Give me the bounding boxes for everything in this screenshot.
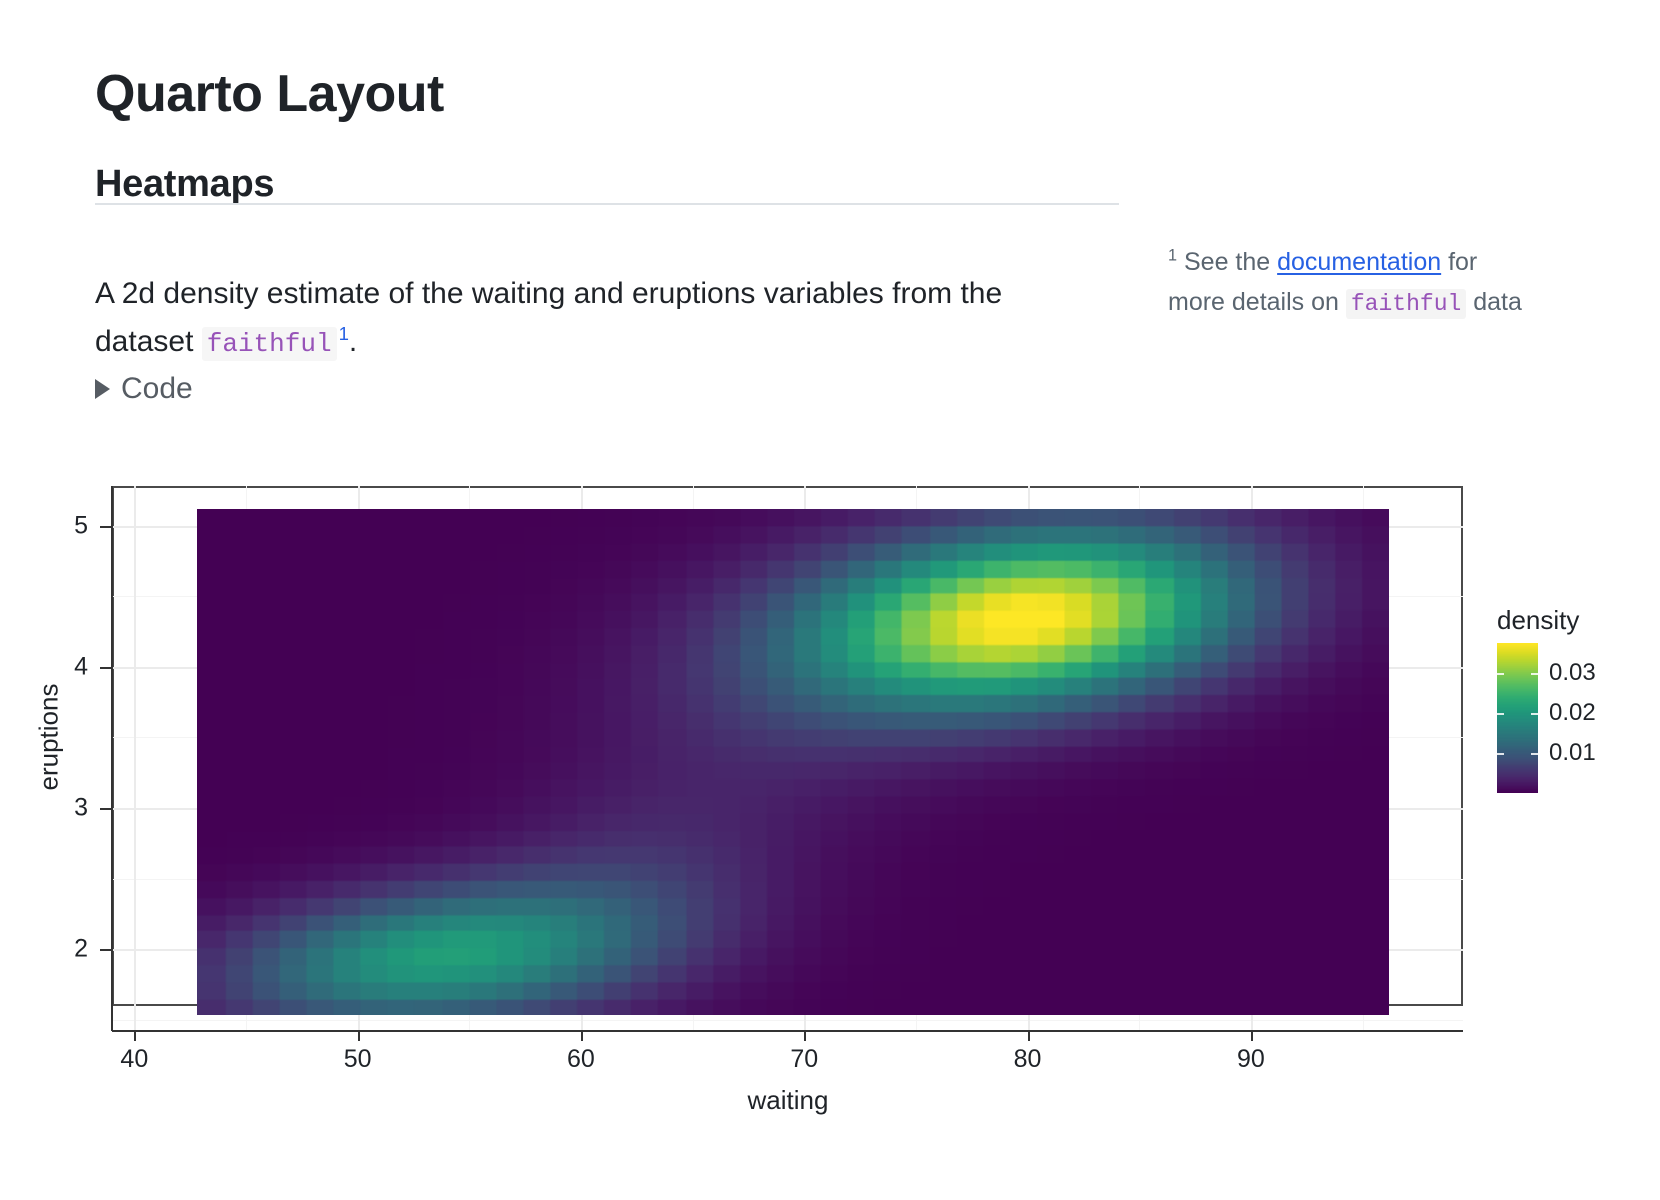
page-root: Quarto Layout Heatmaps A 2d density esti… (0, 0, 1660, 1200)
y-axis-tick-label: 2 (74, 935, 88, 964)
colorbar-tick-label: 0.02 (1549, 699, 1596, 727)
y-axis-tick-mark (100, 808, 111, 810)
x-axis-tick-mark (804, 1030, 806, 1041)
y-axis-tick-mark (100, 949, 111, 951)
x-axis-tick-mark (581, 1030, 583, 1041)
y-axis-tick-label: 4 (74, 652, 88, 681)
heatmap-raster (197, 509, 1389, 1016)
x-axis-tick-label: 90 (1237, 1045, 1265, 1074)
figure-heatmap: 4050607080902345 waiting eruptions densi… (0, 440, 1660, 1120)
margin-note-text-after: data (1466, 288, 1522, 316)
colorbar-gradient (1497, 643, 1538, 793)
colorbar-tick-mark (1497, 673, 1504, 675)
x-axis-line (112, 1030, 1463, 1032)
y-axis-tick-mark (100, 667, 111, 669)
code-disclosure-label: Code (121, 372, 193, 406)
y-gridline-minor (112, 1020, 1463, 1021)
body-paragraph: A 2d density estimate of the waiting and… (95, 270, 1105, 366)
colorbar-tick-mark (1531, 673, 1538, 675)
documentation-link[interactable]: documentation (1277, 248, 1441, 276)
colorbar-tick-mark (1531, 753, 1538, 755)
x-axis-tick-label: 40 (120, 1045, 148, 1074)
x-axis-tick-label: 60 (567, 1045, 595, 1074)
colorbar-title: density (1497, 605, 1579, 636)
x-axis-tick-mark (358, 1030, 360, 1041)
margin-note-text-before: See the (1177, 248, 1277, 276)
margin-note-footnote: 1 See the documentation for more details… (1168, 243, 1528, 322)
inline-code-faithful: faithful (202, 327, 337, 361)
x-axis-tick-label: 80 (1014, 1045, 1042, 1074)
x-axis-title: waiting (748, 1085, 829, 1116)
footnote-reference-1[interactable]: 1 (337, 323, 349, 344)
x-axis-tick-mark (1251, 1030, 1253, 1041)
colorbar-tick-label: 0.03 (1549, 659, 1596, 687)
y-axis-tick-label: 5 (74, 511, 88, 540)
colorbar-tick-mark (1531, 713, 1538, 715)
inline-code-faithful-margin: faithful (1346, 289, 1466, 319)
x-axis-tick-mark (1028, 1030, 1030, 1041)
triangle-right-icon (95, 379, 110, 399)
x-axis-tick-label: 70 (790, 1045, 818, 1074)
y-axis-tick-mark (100, 526, 111, 528)
footnote-number: 1 (1168, 247, 1177, 265)
x-axis-tick-mark (134, 1030, 136, 1041)
heading-divider (95, 203, 1119, 205)
colorbar-tick-mark (1497, 753, 1504, 755)
colorbar-tick-mark (1497, 713, 1504, 715)
y-axis-title: eruptions (34, 684, 65, 791)
paragraph-text-tail: . (349, 325, 357, 358)
y-axis-tick-label: 3 (74, 793, 88, 822)
colorbar-tick-label: 0.01 (1549, 739, 1596, 767)
x-axis-tick-label: 50 (344, 1045, 372, 1074)
page-title: Quarto Layout (95, 65, 444, 125)
code-disclosure-toggle[interactable]: Code (95, 372, 193, 406)
section-heading-heatmaps: Heatmaps (95, 162, 274, 208)
y-axis-line (111, 486, 113, 1031)
